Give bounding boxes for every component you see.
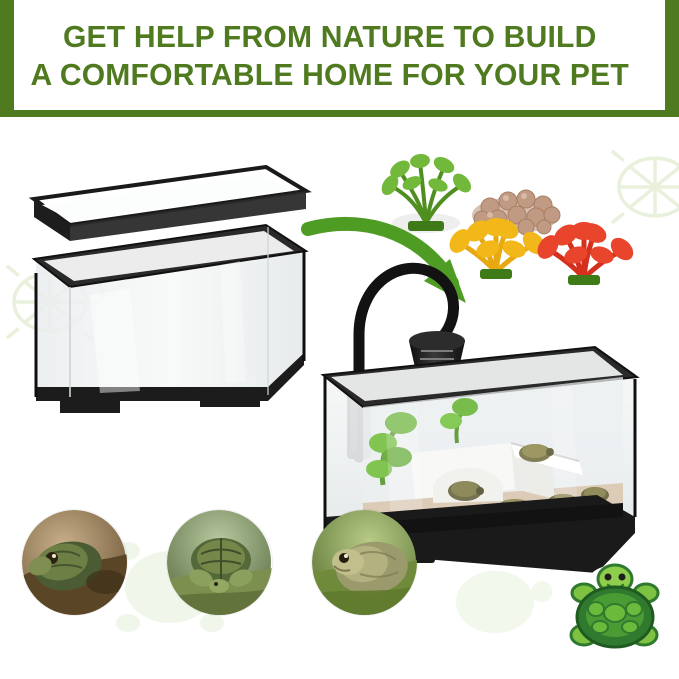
header-underline	[0, 110, 679, 117]
page-title: GET HELP FROM NATURE TO BUILD A COMFORTA…	[14, 18, 645, 94]
photo-turtle-closeup-3	[312, 510, 417, 615]
infographic-page: GET HELP FROM NATURE TO BUILD A COMFORTA…	[0, 0, 679, 679]
photo-turtle-closeup-1	[22, 510, 127, 615]
product-scene	[0, 117, 679, 679]
header-accent-bar-right	[665, 0, 679, 117]
page-title-line-1: GET HELP FROM NATURE TO BUILD	[14, 18, 645, 56]
header-banner: GET HELP FROM NATURE TO BUILD A COMFORTA…	[0, 0, 679, 117]
cartoon-turtle-sticker-icon	[560, 557, 670, 662]
product-empty-tank-kit	[20, 165, 320, 465]
empty-tank-body	[34, 225, 306, 413]
photo-turtle-closeup-2	[167, 510, 272, 615]
header-accent-bar-left	[0, 0, 14, 117]
page-title-line-2: A COMFORTABLE HOME FOR YOUR PET	[14, 56, 645, 94]
